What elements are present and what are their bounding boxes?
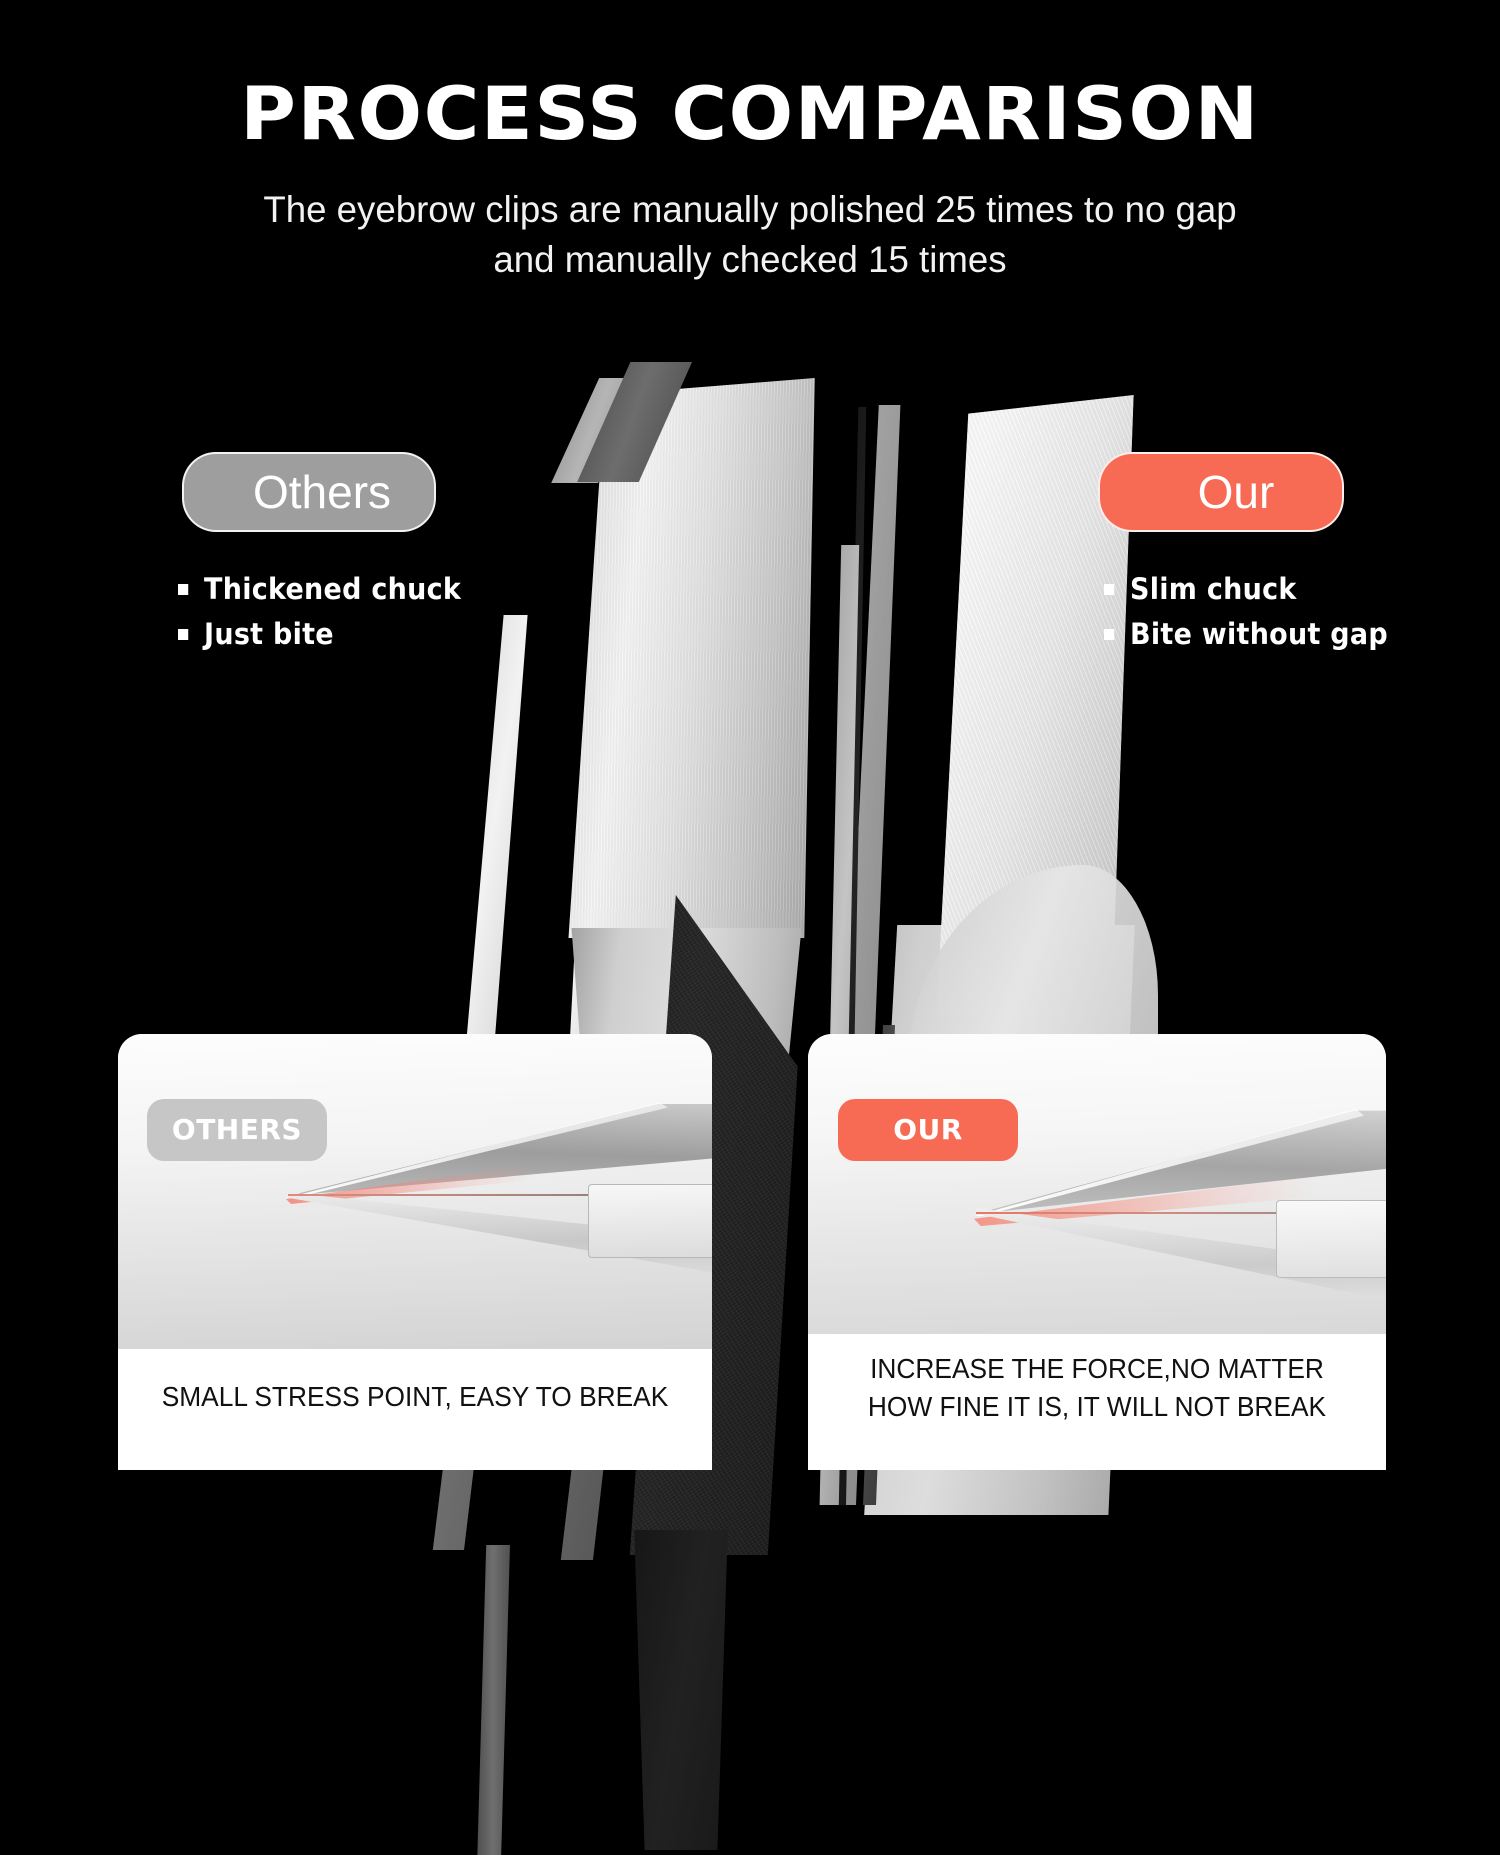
our-tip-photo: [808, 1034, 1386, 1334]
subtitle-line-1: The eyebrow clips are manually polished …: [146, 185, 1354, 235]
our-tip-notch: [1276, 1200, 1386, 1278]
others-inset-badge: OTHERS: [147, 1099, 327, 1161]
our-caption-line-1: INCREASE THE FORCE,NO MATTER: [825, 1350, 1368, 1388]
our-bullet-2: Bite without gap: [1130, 617, 1388, 651]
others-bullet-2: Just bite: [204, 617, 334, 651]
bullet-square-icon: [178, 584, 188, 595]
bullet-square-icon: [1104, 629, 1114, 640]
list-item: Thickened chuck: [178, 572, 461, 606]
others-bullet-1: Thickened chuck: [204, 572, 461, 606]
others-inset-card: OTHERS SMALL STRESS POINT, EASY TO BREAK: [118, 1034, 712, 1470]
list-item: Just bite: [178, 617, 461, 651]
others-sliver: [476, 1545, 510, 1855]
others-tip-photo: [118, 1034, 712, 1349]
subtitle-line-2: and manually checked 15 times: [146, 235, 1354, 285]
bullet-square-icon: [1104, 584, 1114, 595]
others-caption: SMALL STRESS POINT, EASY TO BREAK: [136, 1378, 694, 1416]
header-section: PROCESS COMPARISON The eyebrow clips are…: [0, 0, 1500, 310]
others-caption-line-1: SMALL STRESS POINT, EASY TO BREAK: [136, 1378, 694, 1416]
list-item: Bite without gap: [1104, 617, 1388, 651]
our-caption-line-2: HOW FINE IT IS, IT WILL NOT BREAK: [825, 1388, 1368, 1426]
our-inset-card: OUR INCREASE THE FORCE,NO MATTER HOW FIN…: [808, 1034, 1386, 1470]
bullet-square-icon: [178, 629, 188, 640]
others-tip-notch: [588, 1184, 712, 1258]
our-bullet-1: Slim chuck: [1130, 572, 1297, 606]
our-caption: INCREASE THE FORCE,NO MATTER HOW FINE IT…: [825, 1350, 1368, 1426]
our-inset-badge: OUR: [838, 1099, 1018, 1161]
others-handle-lower: [616, 1530, 746, 1850]
page-title: PROCESS COMPARISON: [0, 78, 1500, 151]
others-feature-list: Thickened chuck Just bite: [178, 572, 461, 662]
others-badge: Others: [182, 452, 436, 532]
our-feature-list: Slim chuck Bite without gap: [1104, 572, 1388, 662]
page-subtitle: The eyebrow clips are manually polished …: [146, 185, 1354, 285]
list-item: Slim chuck: [1104, 572, 1388, 606]
our-badge: Our: [1098, 452, 1344, 532]
